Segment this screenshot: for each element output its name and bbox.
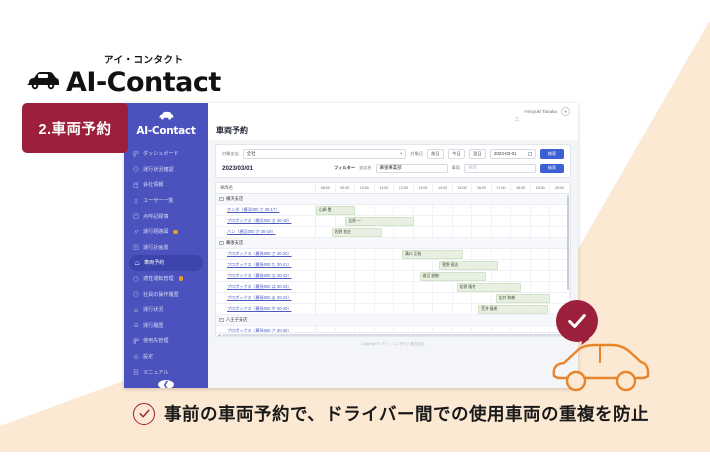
schedule-group-row[interactable]: −横浜支店 [216,194,570,205]
timeline-cell[interactable] [375,249,395,259]
timeline-cell[interactable] [492,326,512,332]
sidebar-logo-text: AI-Contact [124,125,208,137]
vehicle-name-link[interactable]: プロボックス（横浜000 き 30-18） [216,216,316,226]
schedule-body: −横浜支店ホンダ（横浜000 さ 30-17）山崎 豊プロボックス（横浜000 … [216,194,570,332]
timeline-cell[interactable] [355,282,375,292]
sidebar-item-13[interactable]: 使用先管理 [124,333,208,349]
schedule-group-row[interactable]: −八王子支店 [216,315,570,326]
timeline-cell[interactable] [336,271,356,281]
timeline-cell[interactable] [453,326,473,332]
group-label: −横浜支店 [216,196,316,202]
reservation-block[interactable]: 広井 和樹 [496,294,551,302]
timeline-cell[interactable] [355,304,375,314]
timeline-cell[interactable] [394,282,414,292]
book-icon [133,213,139,219]
vertical-scrollbar[interactable] [567,195,570,290]
timeline-cell[interactable] [414,227,434,237]
brand-logo: アイ・コンタクト AI-Contact [26,52,221,98]
timeline-cell[interactable] [453,216,473,226]
timeline-cell[interactable] [453,205,473,215]
sidebar-item-label: 設定 [143,353,153,360]
brand-name: AI-Contact [66,67,221,98]
search-button[interactable]: 検索 [540,149,564,159]
timeline-cell[interactable] [375,304,395,314]
timeline-cell[interactable] [433,216,453,226]
sidebar-item-label: 運行状況 [143,306,163,313]
timeline-cell[interactable] [414,205,434,215]
user-icon [133,198,139,204]
time-header-6: 13:00 [414,183,434,193]
timeline-cell[interactable] [433,205,453,215]
sidebar-item-label: 運行履歴 [143,322,163,329]
timeline-cell[interactable] [355,326,375,332]
sidebar-item-3[interactable]: 会社情報 [124,177,208,193]
timeline-cell[interactable] [511,260,531,270]
reservation-block[interactable]: 吉原 一 [345,217,413,225]
timeline-cell[interactable] [531,227,551,237]
vehicle-name-link[interactable]: プロボックス（幕張000 な 30-22） [216,271,316,281]
timeline-cell[interactable] [316,326,336,332]
group-label: −幕張支店 [216,240,316,246]
vehicle-timeline[interactable] [316,326,570,332]
page-title: 車両予約 [208,120,578,140]
vehicle-row: プロボックス（幕張000 は 30-23）松野 隆冬 [216,282,570,293]
sidebar-item-label: 運行経路図 [143,228,168,235]
sidebar-item-12[interactable]: 運行履歴 [124,318,208,334]
vehicle-timeline[interactable]: 松野 隆冬 [316,282,570,292]
time-header-13: 20:00 [550,183,570,193]
time-header-12: 19:00 [531,183,551,193]
timeline-cell[interactable] [433,282,453,292]
filter-row-2: 2023/03/01 フィルター 支店名 幕張事業部 車両 車両 検索 [222,164,564,174]
app-window: AI-Contact ダッシュボード運行状況確認会社情報ユーザー一覧点呼記録簿運… [124,103,578,388]
sidebar-item-11[interactable]: 運行状況 [124,302,208,318]
vehicle-timeline[interactable]: 溝口 正純 [316,249,570,259]
timeline-cell[interactable] [336,304,356,314]
scroll-thumb[interactable] [222,334,563,336]
timeline-cell[interactable] [394,271,414,281]
vehicle-row: プロボックス（幕張000 さ 30-26） [216,326,570,332]
timeline-cell[interactable] [453,227,473,237]
sidebar-item-label: 適性運転管理 [143,275,174,282]
sidebar-collapse-button[interactable]: ❮ [158,380,174,388]
sidebar-item-6[interactable]: 運行経路図 [124,224,208,240]
list-icon [133,322,139,328]
branch-name-input[interactable]: 幕張事業部 [376,164,448,174]
filter-card: 対象支店 全社 ▾ 対象日 前日 今日 翌日 2023-03-01 [215,144,571,178]
timeline-cell[interactable] [414,293,434,303]
timeline-cell[interactable] [492,271,512,281]
vehicle-timeline[interactable]: 荒井 隆希 [316,304,570,314]
timeline-cell[interactable] [453,293,473,303]
date-input[interactable]: 2023-03-01 [490,149,536,159]
vehicle-row: プロボックス（幕張000 さ 30-20）溝口 正純 [216,249,570,260]
timeline-cell[interactable] [394,304,414,314]
plan-icon [133,244,139,250]
timeline-cell[interactable] [316,249,336,259]
branch-name-value: 幕張事業部 [380,165,402,171]
timeline-cell[interactable] [511,271,531,281]
vehicle-name-link[interactable]: プロボックス（幕張000 は 30-23） [216,282,316,292]
timeline-cell[interactable] [511,227,531,237]
vehicle-row: ホンダ（横浜000 さ 30-17）山崎 豊 [216,205,570,216]
timeline-cell[interactable] [375,205,395,215]
gear-icon [133,354,139,360]
timeline-cell[interactable] [375,293,395,303]
timeline-cell[interactable] [336,282,356,292]
person-icon [514,109,520,115]
group-label: −八王子支店 [216,317,316,323]
sidebar-item-label: 運行計画書 [143,244,168,251]
time-header-11: 18:00 [511,183,531,193]
time-header-7: 14:00 [433,183,453,193]
timeline-cell[interactable] [531,282,551,292]
timeline-cell[interactable] [472,249,492,259]
vehicle-row: プロボックス（幕張000 な 30-22）渡辺 俊樹 [216,271,570,282]
prev-day-button[interactable]: 前日 [427,149,444,159]
timeline-cell[interactable] [336,293,356,303]
timeline-cell[interactable] [511,249,531,259]
branch-select[interactable]: 全社 ▾ [243,149,407,159]
clock-icon [133,166,139,172]
branch-label: 対象支店 [222,151,239,157]
timeline-cell[interactable] [355,205,375,215]
timeline-cell[interactable] [414,216,434,226]
sidebar-item-9[interactable]: 適性運転管理 [124,271,208,287]
scroll-left-icon[interactable]: ◀ [218,333,220,337]
grid-icon [133,338,139,344]
time-header-1: 08:00 [316,183,336,193]
vehicle-input[interactable]: 車両 [464,164,536,174]
sidebar-item-2[interactable]: 運行状況確認 [124,162,208,178]
timeline-cell[interactable] [316,293,336,303]
filter-label: フィルター [334,165,355,171]
sidebar-item-7[interactable]: 運行計画書 [124,240,208,256]
timeline-cell[interactable] [472,227,492,237]
sidebar-item-15[interactable]: マニュアル [124,364,208,380]
timeline-cell[interactable] [472,293,492,303]
vehicle-timeline[interactable]: 広井 和樹 [316,293,570,303]
schedule-header: 車両名 08:0009:0010:0011:0012:0013:0014:001… [216,183,570,194]
timeline-cell[interactable] [336,326,356,332]
timeline-cell[interactable] [375,271,395,281]
timeline-cell[interactable] [472,326,492,332]
timeline-cell[interactable] [472,216,492,226]
vehicle-label: 車両 [452,165,460,171]
sidebar-item-label: 運行状況確認 [143,166,174,173]
timeline-cell[interactable] [511,216,531,226]
current-date: 2023/03/01 [222,165,253,172]
group-name: 横浜支店 [226,196,243,202]
timeline-cell[interactable] [336,249,356,259]
history-icon [133,291,139,297]
time-header-3: 10:00 [355,183,375,193]
horizontal-scrollbar[interactable]: ◀ ▶ [216,332,570,336]
vehicle-name-link[interactable]: プロボックス（幕張000 さ 30-20） [216,249,316,259]
sidebar-item-8[interactable]: 車両予約 [129,255,203,271]
timeline-cell[interactable] [375,260,395,270]
today-button[interactable]: 今日 [448,149,465,159]
top-white-bar [0,0,710,22]
timeline-cell[interactable] [531,249,551,259]
minus-box-icon[interactable]: − [219,318,224,323]
group-name: 八王子支店 [226,317,247,323]
reservation-block[interactable]: 溝口 正純 [402,250,463,258]
timeline-cell[interactable] [531,205,551,215]
vehicle-name-link[interactable]: プロボックス（幕張000 た 30-21） [216,260,316,270]
route-icon [133,229,139,235]
timeline-cell[interactable] [531,260,551,270]
vehicle-row: プロボックス（横浜000 き 30-18）吉原 一 [216,216,570,227]
timeline-cell[interactable] [394,227,414,237]
timeline-cell[interactable] [316,304,336,314]
time-header-4: 11:00 [375,183,395,193]
vehicle-row: プロボックス（幕張000 た 30-21）菅野 昌志 [216,260,570,271]
sidebar-item-14[interactable]: 設定 [124,349,208,365]
vehicle-timeline[interactable]: 佐野 良史 [316,227,570,237]
sidebar-menu: ダッシュボード運行状況確認会社情報ユーザー一覧点呼記録簿運行経路図運行計画書車両… [124,144,208,380]
calendar-icon [528,152,532,156]
timeline-cell[interactable] [336,260,356,270]
step-tag: 2.車両予約 [22,103,128,153]
refine-search-button[interactable]: 検索 [540,164,564,174]
branch-select-value: 全社 [247,151,256,157]
sidebar-item-label: ダッシュボード [143,150,179,157]
vehicle-timeline[interactable]: 山崎 豊 [316,205,570,215]
sidebar-item-label: 点呼記録簿 [143,213,168,220]
timeline-cell[interactable] [492,216,512,226]
timeline-cell[interactable] [511,205,531,215]
car-outline-icon [548,338,654,399]
reservation-block[interactable]: 山崎 豊 [316,206,355,214]
content-area: 対象支店 全社 ▾ 対象日 前日 今日 翌日 2023-03-01 [208,140,578,388]
timeline-cell[interactable] [453,304,473,314]
timeline-cell[interactable] [316,260,336,270]
timeline-cell[interactable] [394,205,414,215]
footer-copyright: Copyright © アイ・コンタクト株式会社 [215,337,571,351]
date-input-value: 2023-03-01 [494,151,516,156]
sidebar: AI-Contact ダッシュボード運行状況確認会社情報ユーザー一覧点呼記録簿運… [124,103,208,388]
gauge-icon [133,276,139,282]
branch-name-label: 支店名 [359,165,372,171]
sidebar-item-label: ユーザー一覧 [143,197,173,204]
timeline-cell[interactable] [414,282,434,292]
building-icon [133,182,139,188]
minus-box-icon[interactable]: − [219,197,224,202]
check-bubble [556,300,598,342]
minus-box-icon[interactable]: − [219,241,224,246]
vehicle-name-link[interactable]: プロボックス（幕張000 さ 30-26） [216,326,316,332]
sidebar-item-1[interactable]: ダッシュボード [124,146,208,162]
timeline-cell[interactable] [394,260,414,270]
vehicle-row: バン（横浜000 か 30-19）佐野 良史 [216,227,570,238]
dashboard-icon [133,151,139,157]
caption-text: 事前の車両予約で、ドライバー間での使用車両の重複を防止 [164,401,649,426]
timeline-cell[interactable] [511,326,531,332]
reservation-block[interactable]: 菅野 昌志 [439,261,498,269]
timeline-cell[interactable] [433,227,453,237]
date-label: 対象日 [410,151,423,157]
time-header-2: 09:00 [336,183,356,193]
vehicle-row: プロボックス（幕張000 や 30-25）荒井 隆希 [216,304,570,315]
vehicle-timeline[interactable]: 渡辺 俊樹 [316,271,570,281]
timeline-cell[interactable] [375,326,395,332]
brand-row: AI-Contact [26,67,221,98]
timeline-cell[interactable] [531,326,551,332]
timeline-cell[interactable] [531,271,551,281]
sidebar-item-label: 車両予約 [144,259,164,266]
filter-row-1: 対象支店 全社 ▾ 対象日 前日 今日 翌日 2023-03-01 [222,149,564,159]
timeline-cell[interactable] [433,326,453,332]
group-name: 幕張支店 [226,240,243,246]
main-panel: Hiroyuki Tanaka ▾ 車両予約 対象支店 全社 ▾ 対象日 前日 [208,103,578,388]
vehicle-timeline[interactable]: 菅野 昌志 [316,260,570,270]
schedule-group-row[interactable]: −幕張支店 [216,238,570,249]
timeline-cell[interactable] [531,216,551,226]
timeline-cell[interactable] [492,227,512,237]
caption: 事前の車両予約で、ドライバー間での使用車両の重複を防止 [133,401,649,426]
timeline-cell[interactable] [472,205,492,215]
brand-superscript: アイ・コンタクト [104,52,221,66]
bottom-white-bar [0,452,710,474]
car-icon [134,260,140,266]
time-header-5: 12:00 [394,183,414,193]
check-icon [566,310,588,332]
time-header-8: 15:00 [453,183,473,193]
vehicle-name-link[interactable]: プロボックス（幕張000 や 30-25） [216,304,316,314]
time-header-9: 16:00 [472,183,492,193]
timeline-cell[interactable] [316,216,336,226]
user-name: Hiroyuki Tanaka [524,109,557,114]
time-header-10: 17:00 [492,183,512,193]
topbar: Hiroyuki Tanaka ▾ [208,103,578,120]
sidebar-item-4[interactable]: ユーザー一覧 [124,193,208,209]
timeline-cell[interactable] [492,249,512,259]
timeline-cell[interactable] [433,293,453,303]
sidebar-item-10[interactable]: 社員の操作履歴 [124,286,208,302]
time-headers: 08:0009:0010:0011:0012:0013:0014:0015:00… [316,183,570,193]
timeline-cell[interactable] [414,304,434,314]
timeline-cell[interactable] [414,260,434,270]
chevron-down-icon[interactable]: ▾ [561,107,570,116]
timeline-cell[interactable] [375,282,395,292]
sidebar-item-label: 社員の操作履歴 [143,291,179,298]
timeline-cell[interactable] [316,271,336,281]
timeline-cell[interactable] [433,304,453,314]
timeline-cell[interactable] [355,249,375,259]
vehicle-name-link[interactable]: プロボックス（幕張000 ま 30-24） [216,293,316,303]
sidebar-car-icon [124,111,208,123]
vehicle-name-link[interactable]: バン（横浜000 か 30-19） [216,227,316,237]
reservation-block[interactable]: 松野 隆冬 [457,283,521,291]
timeline-cell[interactable] [316,282,336,292]
sidebar-item-label: 使用先管理 [143,337,168,344]
schedule-table: 車両名 08:0009:0010:0011:0012:0013:0014:001… [215,182,571,337]
manual-icon [133,369,139,375]
reservation-block[interactable]: 荒井 隆希 [478,305,548,313]
vehicle-name-column-header: 車両名 [216,183,316,193]
timeline-cell[interactable] [492,205,512,215]
notification-badge [179,276,184,281]
notification-badge [173,230,178,235]
timeline-cell[interactable] [355,293,375,303]
vehicle-timeline[interactable]: 吉原 一 [316,216,570,226]
sidebar-logo: AI-Contact [124,103,208,144]
next-day-button[interactable]: 翌日 [469,149,486,159]
vehicle-name-link[interactable]: ホンダ（横浜000 さ 30-17） [216,205,316,215]
chart-icon [133,307,139,313]
car-icon [26,70,60,95]
vehicle-row: プロボックス（幕張000 ま 30-24）広井 和樹 [216,293,570,304]
timeline-cell[interactable] [394,326,414,332]
timeline-cell[interactable] [414,326,434,332]
check-circle-icon [133,403,155,425]
timeline-cell[interactable] [394,293,414,303]
timeline-cell[interactable] [355,271,375,281]
sidebar-item-label: 会社情報 [143,181,163,188]
sidebar-item-5[interactable]: 点呼記録簿 [124,208,208,224]
reservation-block[interactable]: 佐野 良史 [332,228,383,236]
timeline-cell[interactable] [355,260,375,270]
reservation-block[interactable]: 渡辺 俊樹 [420,272,486,280]
vehicle-placeholder: 車両 [468,165,477,171]
chevron-down-icon: ▾ [400,151,402,157]
slide-root: アイ・コンタクト AI-Contact 2.車両予約 AI-Contact ダッ… [0,0,710,474]
sidebar-item-label: マニュアル [143,369,168,376]
